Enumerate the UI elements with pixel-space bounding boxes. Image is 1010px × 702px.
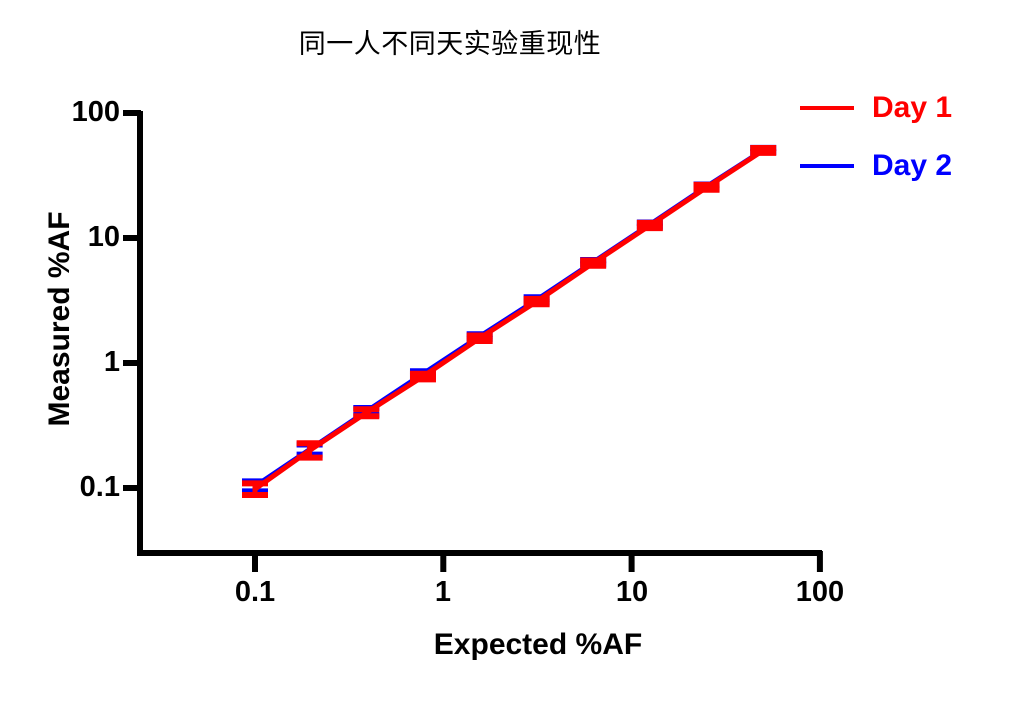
chart-container: 同一人不同天实验重现性 Measured %AF Expected %AF 10…	[0, 0, 1010, 702]
series-line	[255, 150, 763, 489]
data-series-layer	[242, 148, 776, 495]
plot-area	[0, 0, 1010, 702]
series-day-1	[242, 148, 776, 495]
